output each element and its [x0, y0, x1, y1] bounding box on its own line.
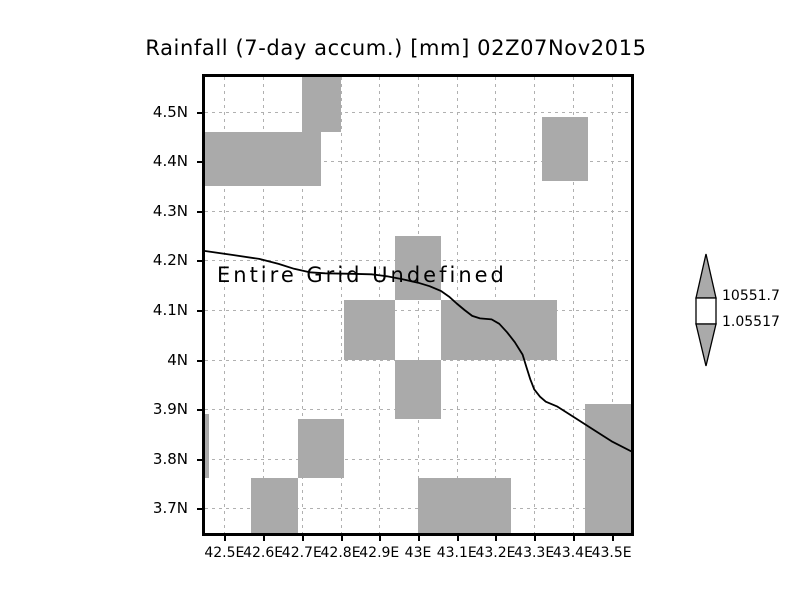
x-axis-tick: [457, 533, 459, 541]
y-axis-label: 4.2N: [128, 251, 188, 269]
x-axis-tick: [302, 533, 304, 541]
y-axis-label: 3.7N: [128, 499, 188, 517]
x-axis-tick: [418, 533, 420, 541]
colorbar-min-label: 1.05517: [722, 314, 780, 330]
x-axis-tick: [341, 533, 343, 541]
x-axis-tick: [224, 533, 226, 541]
y-axis-label: 3.9N: [128, 400, 188, 418]
colorbar-shape: [690, 252, 734, 368]
y-axis-tick: [197, 112, 205, 114]
page-title: Rainfall (7-day accum.) [mm] 02Z07Nov201…: [0, 36, 792, 60]
y-axis-tick: [197, 310, 205, 312]
y-axis-tick: [197, 260, 205, 262]
undefined-grid-message: Entire Grid Undefined: [217, 263, 507, 287]
x-axis-label: 43.5E: [582, 545, 642, 561]
y-axis-label: 4N: [128, 351, 188, 369]
x-axis-tick: [534, 533, 536, 541]
y-axis-label: 4.4N: [128, 152, 188, 170]
colorbar[interactable]: 10551.7 1.05517: [690, 252, 790, 368]
y-axis-tick: [197, 508, 205, 510]
y-axis-label: 4.3N: [128, 202, 188, 220]
x-axis-tick: [612, 533, 614, 541]
plot-canvas: Rainfall (7-day accum.) [mm] 02Z07Nov201…: [0, 0, 792, 612]
y-axis-tick: [197, 161, 205, 163]
x-axis-tick: [495, 533, 497, 541]
y-axis-tick: [197, 211, 205, 213]
x-axis-tick: [263, 533, 265, 541]
map-plot-inner: [205, 77, 631, 533]
map-plot-area: Entire Grid Undefined: [202, 74, 634, 536]
y-axis-tick: [197, 409, 205, 411]
coastline-layer: [205, 77, 631, 533]
y-axis-label: 3.8N: [128, 450, 188, 468]
x-axis-tick: [573, 533, 575, 541]
y-axis-tick: [197, 459, 205, 461]
y-axis-tick: [197, 360, 205, 362]
y-axis-label: 4.5N: [128, 103, 188, 121]
x-axis-tick: [379, 533, 381, 541]
colorbar-max-label: 10551.7: [722, 288, 780, 304]
y-axis-label: 4.1N: [128, 301, 188, 319]
